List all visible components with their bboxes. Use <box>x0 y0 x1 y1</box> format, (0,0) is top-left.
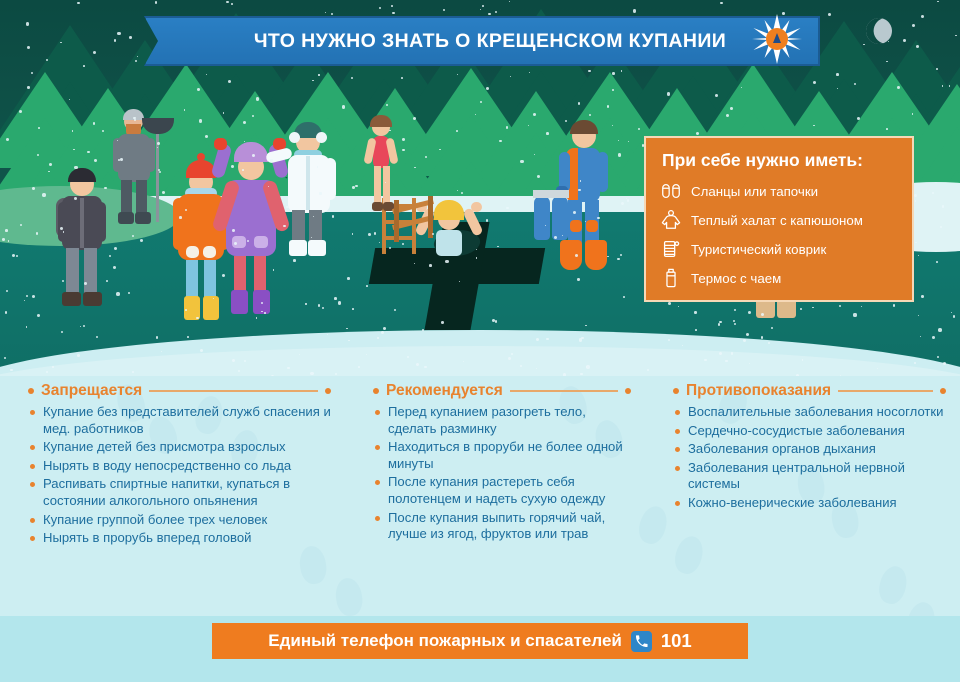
info-column-3: Противопоказания Воспалительные заболева… <box>645 382 960 549</box>
footprint <box>876 563 910 606</box>
column-heading-row: Запрещается <box>28 382 331 400</box>
info-columns: Запрещается Купание без представителей с… <box>0 382 960 549</box>
kit-items-list: Сланцы или тапочки Теплый халат с капюшо… <box>660 180 898 289</box>
emergency-phone-number: 101 <box>661 630 692 652</box>
emercom-star-emblem-icon <box>752 14 802 64</box>
column-heading-row: Рекомендуется <box>373 382 631 400</box>
title-banner: ЧТО НУЖНО ЗНАТЬ О КРЕЩЕНСКОМ КУПАНИИ <box>144 16 820 66</box>
column-heading-row: Противопоказания <box>673 382 946 400</box>
kit-item: Теплый халат с капюшоном <box>660 209 898 231</box>
info-column-1: Запрещается Купание без представителей с… <box>0 382 345 549</box>
kit-item-label: Теплый халат с капюшоном <box>691 213 863 228</box>
infographic-poster: ЧТО НУЖНО ЗНАТЬ О КРЕЩЕНСКОМ КУПАНИИ При… <box>0 0 960 682</box>
list-item: Кожно-венерические заболевания <box>673 495 946 512</box>
list-item: Распивать спиртные напитки, купаться в с… <box>28 476 331 509</box>
camping-mat-icon <box>660 238 682 260</box>
slippers-icon <box>660 180 682 202</box>
emergency-phone-label: Единый телефон пожарных и спасателей <box>268 631 622 651</box>
person-with-shovel <box>112 112 158 230</box>
heading-rule <box>838 390 933 392</box>
kit-item: Термос с чаем <box>660 267 898 289</box>
column-heading: Рекомендуется <box>386 382 503 400</box>
column-heading: Запрещается <box>41 382 142 400</box>
list-item: После купания выпить горячий чай, лучше … <box>373 510 631 543</box>
list-item: Заболевания органов дыхания <box>673 441 946 458</box>
footprint <box>297 544 328 585</box>
sled-icon <box>392 196 438 250</box>
person-scuba-diver <box>552 124 614 276</box>
hooded-robe-icon <box>660 209 682 231</box>
thermos-icon <box>660 267 682 289</box>
kit-item: Сланцы или тапочки <box>660 180 898 202</box>
footprint <box>904 599 938 616</box>
column-list: Воспалительные заболевания носоглоткиСер… <box>673 404 946 512</box>
rule-end-dot <box>325 388 331 394</box>
column-list: Перед купанием разогреть тело, сделать р… <box>373 404 631 543</box>
list-item: Сердечно-сосудистые заболевания <box>673 423 946 440</box>
person-purple-jacket <box>214 140 286 326</box>
kit-item: Туристический коврик <box>660 238 898 260</box>
list-item: Перед купанием разогреть тело, сделать р… <box>373 404 631 437</box>
heading-rule <box>149 390 318 392</box>
list-item: Заболевания центральной нервной системы <box>673 460 946 493</box>
person-white-coat <box>278 122 340 272</box>
kit-box-title: При себе нужно иметь: <box>662 150 898 171</box>
kit-item-label: Термос с чаем <box>691 271 781 286</box>
footprint <box>333 576 364 616</box>
page-title: ЧТО НУЖНО ЗНАТЬ О КРЕЩЕНСКОМ КУПАНИИ <box>238 30 726 53</box>
rule-end-dot <box>625 388 631 394</box>
kit-item-label: Туристический коврик <box>691 242 826 257</box>
list-item: Купание детей без присмотра взрослых <box>28 439 331 456</box>
list-item: Нырять в прорубь вперед головой <box>28 530 331 547</box>
column-list: Купание без представителей служб спасени… <box>28 404 331 547</box>
rule-start-dot <box>673 388 679 394</box>
list-item: Воспалительные заболевания носоглотки <box>673 404 946 421</box>
column-heading: Противопоказания <box>686 382 831 400</box>
person-boy-backpack <box>56 172 112 324</box>
list-item: Купание без представителей служб спасени… <box>28 404 331 437</box>
rule-start-dot <box>28 388 34 394</box>
list-item: После купания растереть себя полотенцем … <box>373 474 631 507</box>
kit-checklist-box: При себе нужно иметь: Сланцы или тапочки… <box>644 136 914 302</box>
list-item: Нырять в воду непосредственно со льда <box>28 458 331 475</box>
rule-start-dot <box>373 388 379 394</box>
rule-end-dot <box>940 388 946 394</box>
phone-handset-icon <box>631 631 652 652</box>
kit-item-label: Сланцы или тапочки <box>691 184 818 199</box>
emergency-phone-bar[interactable]: Единый телефон пожарных и спасателей 101 <box>212 623 748 659</box>
list-item: Купание группой более трех человек <box>28 512 331 529</box>
list-item: Находиться в проруби не более одной мину… <box>373 439 631 472</box>
heading-rule <box>510 390 618 392</box>
info-column-2: Рекомендуется Перед купанием разогреть т… <box>345 382 645 549</box>
